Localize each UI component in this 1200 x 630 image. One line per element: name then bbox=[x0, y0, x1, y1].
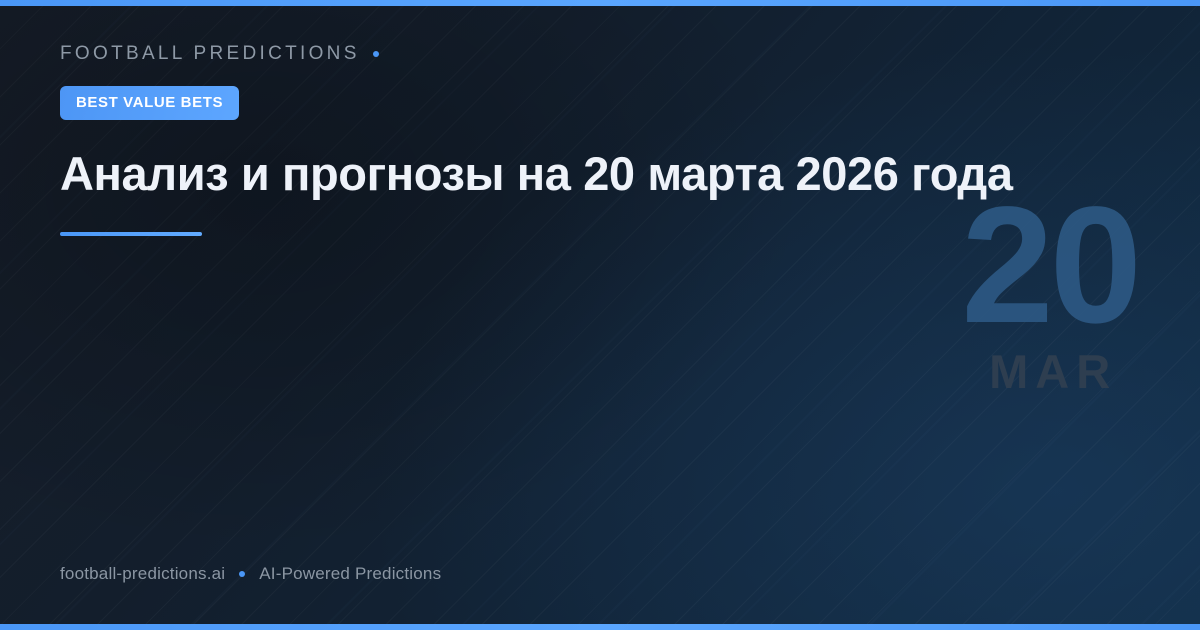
brand-kicker: FOOTBALL PREDICTIONS bbox=[60, 43, 360, 65]
top-accent-rule bbox=[0, 0, 1200, 6]
footer-dot-icon bbox=[239, 571, 245, 577]
card-footer: football-predictions.ai AI-Powered Predi… bbox=[60, 564, 441, 584]
kicker-row: FOOTBALL PREDICTIONS bbox=[60, 40, 1080, 68]
bottom-accent-rule bbox=[0, 624, 1200, 630]
kicker-dot-icon bbox=[373, 51, 379, 57]
footer-tagline: AI-Powered Predictions bbox=[259, 564, 441, 584]
card-content: FOOTBALL PREDICTIONS BEST VALUE BETS Ана… bbox=[60, 40, 1080, 236]
footer-domain: football-predictions.ai bbox=[60, 564, 225, 584]
og-share-card: 20 MAR FOOTBALL PREDICTIONS BEST VALUE B… bbox=[0, 0, 1200, 630]
page-title: Анализ и прогнозы на 20 марта 2026 года bbox=[60, 147, 1070, 201]
status-badge: BEST VALUE BETS bbox=[60, 86, 239, 120]
title-accent-underline bbox=[60, 232, 202, 236]
